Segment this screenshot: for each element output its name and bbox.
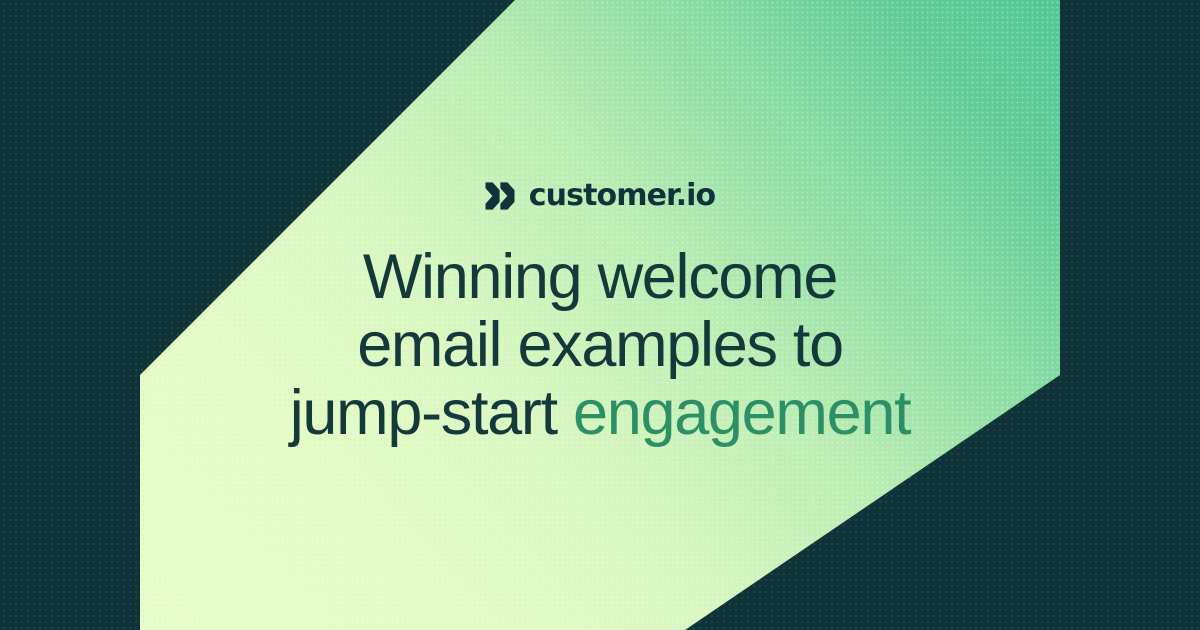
headline-line-2: email examples to (140, 311, 1060, 379)
page-title: Winning welcome email examples to jump-s… (140, 243, 1060, 447)
headline-line-3-plain: jump-start (290, 378, 573, 448)
brand-logo: customer.io (485, 181, 715, 211)
customer-io-chevron-mark-icon (485, 182, 515, 210)
card-content: customer.io Winning welcome email exampl… (140, 0, 1060, 630)
headline-line-3: jump-start engagement (140, 379, 1060, 447)
headline-line-1: Winning welcome (140, 243, 1060, 311)
social-share-card: customer.io Winning welcome email exampl… (0, 0, 1200, 630)
headline-accent-word: engagement (573, 378, 910, 448)
brand-wordmark: customer.io (529, 181, 715, 211)
